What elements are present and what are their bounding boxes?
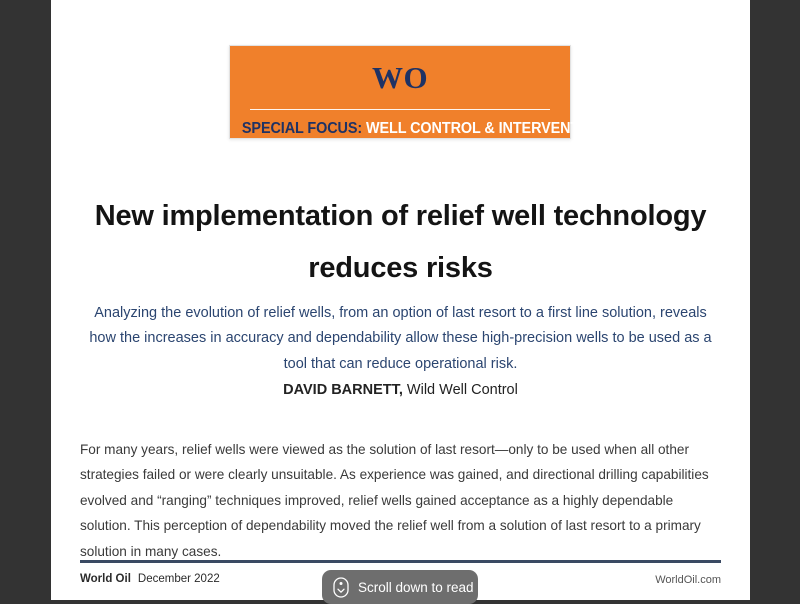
special-focus-topic: WELL CONTROL & INTERVENTION: [366, 120, 605, 137]
special-focus-label: SPECIAL FOCUS:: [242, 120, 362, 137]
masthead-banner: WO SPECIAL FOCUS: WELL CONTROL & INTERVE…: [229, 45, 571, 139]
article-page-sheet: WO SPECIAL FOCUS: WELL CONTROL & INTERVE…: [51, 0, 750, 600]
special-focus-line: SPECIAL FOCUS: WELL CONTROL & INTERVENTI…: [242, 120, 558, 138]
footer-divider: [80, 560, 721, 563]
world-oil-logo: WO: [230, 46, 570, 93]
masthead-divider: [250, 109, 550, 110]
footer-brand: World Oil: [80, 573, 131, 585]
scroll-down-prompt[interactable]: Scroll down to read: [322, 570, 478, 604]
article-deck: Analyzing the evolution of relief wells,…: [81, 301, 720, 378]
article-body-paragraph: For many years, relief wells were viewed…: [80, 437, 721, 565]
screenshot-viewport: WO SPECIAL FOCUS: WELL CONTROL & INTERVE…: [0, 0, 800, 600]
mouse-scroll-icon: [333, 577, 349, 598]
byline-author: DAVID BARNETT,: [283, 382, 403, 398]
footer-issue-date: December 2022: [138, 573, 220, 585]
footer-website: WorldOil.com: [655, 574, 721, 586]
article-headline: New implementation of relief well techno…: [81, 191, 720, 294]
article-byline: DAVID BARNETT, Wild Well Control: [81, 382, 720, 398]
byline-organization: Wild Well Control: [407, 382, 518, 398]
footer-issue-info: World OilDecember 2022: [80, 573, 220, 585]
scroll-down-prompt-label: Scroll down to read: [358, 580, 474, 595]
